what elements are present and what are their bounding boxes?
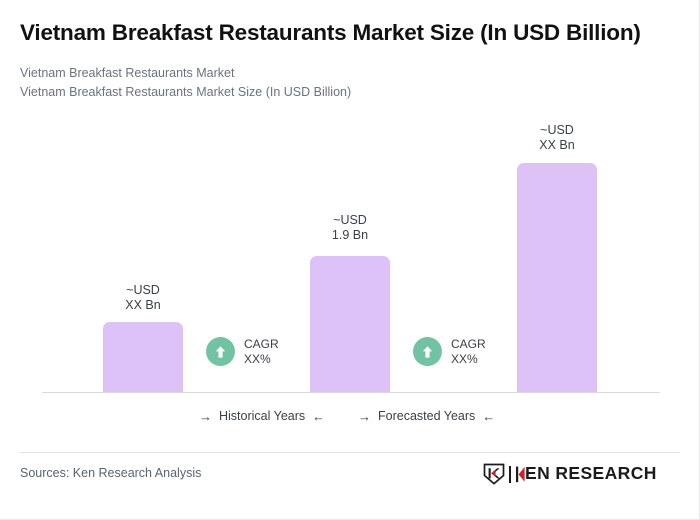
brand-logo: EN RESEARCH — [483, 463, 657, 485]
period-label-historical-text: Historical Years — [219, 409, 305, 423]
bar-value-label-1: ~USD XX Bn — [103, 283, 183, 313]
cagr-badge-historical[interactable]: CAGR XX% — [206, 337, 279, 366]
cagr-label-historical: CAGR XX% — [244, 337, 279, 366]
bar-value-prefix-3: ~USD — [517, 123, 597, 138]
footer-divider — [20, 452, 680, 453]
cagr-label-forecasted: CAGR XX% — [451, 337, 486, 366]
bar-value-label-2: ~USD 1.9 Bn — [310, 213, 390, 243]
arrow-left-glyph-icon: ← — [312, 410, 325, 423]
axis-period-labels: → Historical Years ← → Forecasted Years … — [0, 409, 700, 431]
arrow-right-glyph-icon: → — [358, 410, 371, 423]
cagr-title-2: CAGR — [451, 337, 486, 351]
arrow-up-icon — [413, 337, 442, 366]
arrow-right-glyph-icon: → — [199, 410, 212, 423]
brand-k-accent-icon — [516, 466, 525, 483]
period-label-forecasted: → Forecasted Years ← — [358, 409, 495, 423]
chart-card: Vietnam Breakfast Restaurants Market Siz… — [0, 0, 700, 520]
period-label-historical: → Historical Years ← — [199, 409, 325, 423]
bar-value-label-3: ~USD XX Bn — [517, 123, 597, 153]
bar-chart-plot: ~USD XX Bn ~USD 1.9 Bn ~USD XX Bn — [0, 0, 700, 445]
arrow-up-icon — [206, 337, 235, 366]
arrow-left-glyph-icon: ← — [482, 410, 495, 423]
cagr-badge-forecasted[interactable]: CAGR XX% — [413, 337, 486, 366]
brand-separator — [509, 466, 511, 483]
axis-baseline — [42, 392, 660, 393]
bar-historical[interactable] — [103, 322, 183, 392]
bar-value-amount-2: 1.9 Bn — [310, 228, 390, 243]
bar-value-prefix-2: ~USD — [310, 213, 390, 228]
cagr-value-1: XX% — [244, 352, 279, 366]
bar-current[interactable] — [310, 256, 390, 392]
period-label-forecasted-text: Forecasted Years — [378, 409, 475, 423]
bar-value-amount-1: XX Bn — [103, 298, 183, 313]
brand-name-text: EN RESEARCH — [525, 465, 657, 483]
cagr-value-2: XX% — [451, 352, 486, 366]
bar-value-prefix-1: ~USD — [103, 283, 183, 298]
brand-wordmark: EN RESEARCH — [516, 465, 657, 483]
cagr-title-1: CAGR — [244, 337, 279, 351]
sources-label: Sources: Ken Research Analysis — [20, 466, 201, 480]
bar-value-amount-3: XX Bn — [517, 138, 597, 153]
ken-research-shield-icon — [483, 463, 505, 485]
bar-forecasted[interactable] — [517, 163, 597, 392]
